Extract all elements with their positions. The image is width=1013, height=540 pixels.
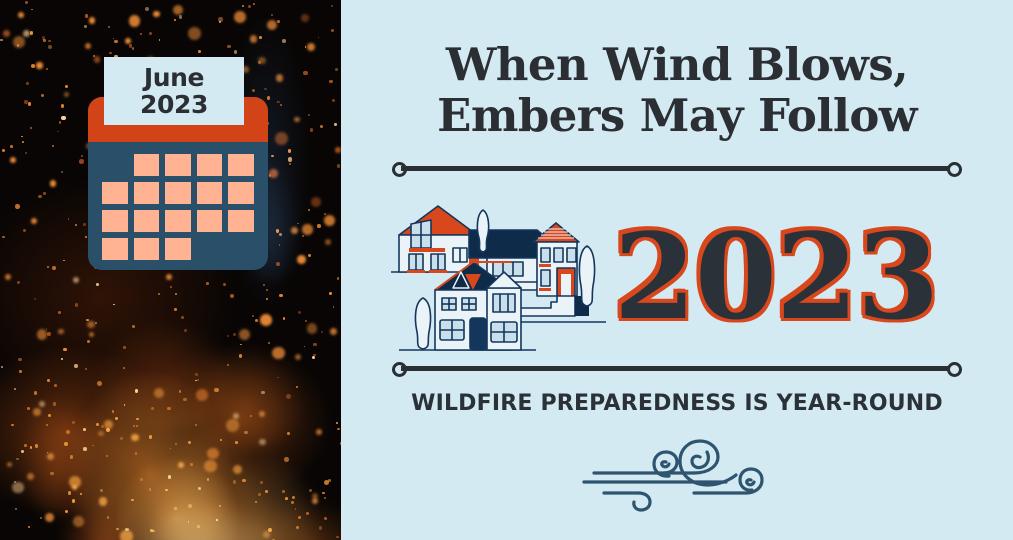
ember-spark: [85, 43, 91, 49]
ember-spark: [46, 424, 48, 426]
ember-spark: [320, 125, 323, 128]
ember-spark: [230, 294, 233, 297]
calendar-cell-day: [165, 154, 191, 176]
divider-bar: [401, 366, 953, 371]
ember-spark: [41, 94, 44, 97]
ember-spark: [18, 12, 24, 18]
ember-spark: [264, 88, 266, 90]
ember-spark: [131, 434, 138, 441]
ember-spark: [99, 497, 107, 505]
ember-spark: [85, 14, 88, 17]
tagline-text: WILDFIRE PREPAREDNESS IS YEAR-ROUND: [341, 391, 1013, 416]
ember-spark: [35, 444, 38, 447]
ember-spark: [261, 391, 264, 394]
ember-spark: [276, 262, 280, 266]
ember-spark: [47, 453, 54, 460]
ember-spark: [173, 5, 183, 15]
ember-spark: [16, 458, 18, 460]
divider-bottom: [392, 360, 962, 378]
ember-spark: [37, 329, 48, 340]
ember-spark: [28, 102, 31, 105]
ember-spark: [190, 463, 193, 466]
ember-spark: [233, 480, 236, 483]
ember-spark: [227, 45, 231, 49]
ember-spark: [302, 224, 313, 235]
ember-spark: [63, 348, 66, 351]
ember-spark: [181, 316, 184, 319]
ember-spark: [292, 496, 295, 499]
ember-spark: [75, 224, 77, 226]
ember-spark: [59, 121, 62, 124]
ember-spark: [258, 493, 260, 495]
ember-spark: [94, 56, 100, 62]
ember-spark: [27, 473, 34, 480]
ember-spark: [19, 370, 22, 373]
ember-spark: [306, 512, 309, 515]
ember-spark: [307, 323, 318, 334]
ember-spark: [319, 526, 322, 529]
ember-spark: [135, 389, 138, 392]
ember-spark: [312, 493, 318, 499]
ember-spark: [50, 180, 56, 186]
ember-spark: [57, 131, 59, 133]
calendar-cell-day: [165, 238, 191, 260]
ember-spark: [133, 425, 135, 427]
ember-spark: [21, 136, 23, 138]
ember-spark: [263, 531, 270, 538]
calendar-day-grid: [102, 154, 254, 260]
ember-spark: [15, 508, 17, 510]
ember-spark: [276, 229, 279, 232]
ember-spark: [153, 11, 159, 17]
ember-spark: [258, 57, 265, 64]
ember-spark: [226, 419, 239, 432]
calendar-cell-day: [134, 238, 160, 260]
ember-spark: [132, 325, 135, 328]
ember-spark: [282, 39, 286, 43]
calendar-cell-day: [102, 182, 128, 204]
divider-bar: [401, 166, 953, 171]
ember-spark: [17, 281, 20, 284]
ember-spark: [27, 407, 30, 410]
ember-spark: [108, 26, 110, 28]
calendar-cell-day: [102, 238, 128, 260]
ember-spark: [125, 38, 131, 44]
ember-spark: [120, 437, 123, 440]
ember-spark: [129, 44, 132, 47]
ember-spark: [302, 235, 304, 237]
ember-spark: [36, 62, 42, 68]
ember-spark: [149, 435, 153, 439]
calendar-cell-day: [134, 210, 160, 232]
ember-spark: [321, 331, 323, 333]
flame-glow: [20, 395, 100, 515]
ember-spark: [196, 389, 208, 401]
ember-spark: [65, 510, 68, 513]
ember-spark: [145, 7, 149, 11]
ember-spark: [282, 490, 285, 493]
ember-spark: [279, 244, 281, 246]
ember-spark: [294, 117, 300, 123]
ember-spark: [288, 157, 293, 162]
ember-spark: [64, 442, 67, 445]
ember-spark: [317, 224, 321, 228]
ember-spark: [135, 452, 138, 455]
page-title: When Wind Blows, Embers May Follow: [341, 40, 1013, 142]
ember-spark: [296, 386, 298, 388]
ember-spark: [286, 394, 291, 399]
headline-line-1: When Wind Blows,: [446, 38, 908, 91]
year-display: 2023: [596, 218, 956, 348]
ember-spark: [324, 215, 335, 226]
ember-spark: [219, 505, 221, 507]
ember-spark: [46, 68, 49, 71]
ember-spark: [275, 132, 288, 145]
ember-spark: [312, 356, 316, 360]
ember-spark: [269, 169, 277, 177]
calendar-cell-empty: [228, 238, 254, 260]
calendar-year-value: 2023: [140, 91, 208, 118]
ember-spark: [115, 417, 118, 420]
ember-spark: [337, 428, 340, 431]
ember-spark: [120, 530, 132, 540]
ember-spark: [198, 487, 201, 490]
ember-spark: [167, 407, 170, 410]
ember-spark: [336, 422, 338, 424]
ember-spark: [42, 36, 46, 40]
ember-spark: [125, 528, 129, 532]
ember-spark: [308, 114, 310, 116]
ember-spark: [337, 164, 341, 168]
ember-spark: [242, 479, 245, 482]
ember-spark: [34, 298, 36, 300]
ember-spark: [214, 388, 218, 392]
ember-spark: [174, 507, 177, 510]
ember-spark: [216, 519, 218, 521]
ember-spark: [101, 425, 104, 428]
ember-spark: [48, 40, 50, 42]
calendar-cell-day: [228, 210, 254, 232]
ember-spark: [197, 525, 200, 528]
divider-top: [392, 160, 962, 178]
calendar-cell-day: [134, 182, 160, 204]
ember-spark: [149, 32, 152, 35]
neighborhood-houses-illustration: [391, 190, 606, 365]
ember-spark: [291, 501, 294, 504]
ember-spark: [151, 407, 154, 410]
ember-spark: [24, 100, 28, 104]
ember-spark: [219, 21, 221, 23]
ember-spark: [68, 491, 71, 494]
ember-spark: [112, 410, 114, 412]
ember-spark: [129, 15, 140, 26]
ember-spark: [72, 421, 75, 424]
ember-spark: [277, 20, 280, 23]
calendar-cell-day: [197, 210, 223, 232]
ember-spark: [183, 398, 186, 401]
ember-spark: [34, 391, 37, 394]
ember-spark: [263, 284, 265, 286]
calendar-cell-day: [134, 154, 160, 176]
content-panel: When Wind Blows, Embers May Follow: [341, 0, 1013, 540]
ember-spark: [30, 31, 33, 34]
ember-spark: [276, 74, 284, 82]
ember-spark: [206, 282, 209, 285]
ember-spark: [313, 354, 316, 357]
wind-swirl-icon: [576, 435, 781, 515]
calendar-cell-empty: [197, 238, 223, 260]
ember-spark: [87, 340, 90, 343]
divider-endpoint-right-icon: [947, 362, 962, 377]
ember-spark: [22, 141, 24, 143]
ember-spark: [266, 298, 268, 300]
ember-spark: [267, 20, 277, 30]
ember-spark: [85, 236, 87, 238]
ember-spark: [178, 462, 185, 469]
calendar-cell-day: [165, 210, 191, 232]
ember-spark: [235, 441, 238, 444]
ember-spark: [10, 145, 13, 148]
ember-spark: [11, 424, 13, 426]
ember-spark: [74, 364, 78, 368]
headline-line-2: Embers May Follow: [341, 91, 1013, 142]
ember-spark: [307, 43, 315, 51]
ember-spark: [47, 379, 50, 382]
ember-spark: [25, 1, 28, 4]
ember-spark: [136, 425, 138, 427]
ember-spark: [174, 308, 176, 310]
infographic-poster: June 2023 When Wind Blows, Embers May Fo…: [0, 0, 1013, 540]
ember-spark: [25, 152, 27, 154]
calendar-cell-day: [197, 154, 223, 176]
ember-spark: [73, 516, 84, 527]
ember-spark: [271, 155, 274, 158]
ember-spark: [291, 227, 298, 234]
ember-spark: [54, 384, 57, 387]
ember-spark: [280, 104, 282, 106]
ember-spark: [79, 159, 84, 164]
calendar-cell-day: [197, 182, 223, 204]
ember-spark: [289, 163, 291, 165]
ember-spark: [83, 447, 87, 451]
ember-spark: [50, 472, 53, 475]
ember-spark: [204, 460, 216, 472]
ember-spark: [188, 504, 192, 508]
ember-spark: [279, 294, 282, 297]
ember-spark: [239, 354, 242, 357]
ember-spark: [260, 481, 263, 484]
ember-spark: [131, 499, 134, 502]
ember-spark: [259, 36, 262, 39]
calendar-cell-day: [165, 182, 191, 204]
ember-spark: [310, 128, 313, 131]
ember-spark: [38, 195, 41, 198]
ember-spark: [259, 439, 265, 445]
ember-spark: [3, 30, 10, 37]
ember-spark: [18, 358, 21, 361]
ember-spark: [207, 448, 218, 459]
ember-spark: [288, 149, 291, 152]
ember-spark: [174, 19, 176, 21]
ember-spark: [98, 431, 103, 436]
calendar-month-name: June: [144, 64, 204, 91]
ember-spark: [10, 157, 16, 163]
calendar-cell-empty: [102, 154, 128, 176]
ember-spark: [285, 497, 288, 500]
calendar-month-label: June 2023: [104, 57, 244, 125]
ember-spark: [31, 218, 37, 224]
ember-spark: [123, 367, 125, 369]
ember-spark: [298, 516, 301, 519]
ember-spark: [106, 428, 110, 432]
ember-spark: [179, 390, 181, 392]
ember-spark: [26, 82, 29, 85]
ember-spark: [284, 457, 288, 461]
ember-spark: [265, 490, 268, 493]
ember-spark: [332, 99, 335, 102]
ember-spark: [313, 343, 316, 346]
ember-spark: [58, 311, 61, 314]
ember-spark: [136, 418, 138, 420]
ember-spark: [116, 528, 118, 530]
ember-spark: [43, 192, 46, 195]
calendar-cell-day: [228, 182, 254, 204]
ember-spark: [179, 15, 182, 18]
ember-spark: [93, 55, 95, 57]
ember-spark: [15, 204, 20, 209]
ember-spark: [198, 50, 201, 53]
ember-spark: [166, 274, 172, 280]
ember-spark: [165, 489, 167, 491]
ember-spark: [72, 499, 75, 502]
ember-spark: [197, 379, 199, 381]
ember-spark: [188, 27, 201, 40]
divider-endpoint-right-icon: [947, 162, 962, 177]
ember-spark: [207, 478, 209, 480]
ember-spark: [23, 30, 30, 37]
ember-spark: [2, 149, 5, 152]
ember-spark: [260, 314, 272, 326]
ember-spark: [271, 14, 273, 16]
ember-spark: [248, 5, 251, 8]
calendar-cell-day: [228, 154, 254, 176]
ember-spark: [168, 475, 171, 478]
ember-spark: [272, 347, 284, 359]
ember-spark: [0, 39, 2, 41]
ember-spark: [39, 401, 45, 407]
ember-spark: [83, 428, 86, 431]
ember-spark: [45, 513, 54, 522]
calendar-cell-day: [102, 210, 128, 232]
ember-spark: [234, 50, 237, 53]
ember-spark: [83, 223, 86, 226]
ember-spark: [28, 526, 30, 528]
ember-spark: [149, 488, 151, 490]
ember-spark: [303, 71, 307, 75]
ember-spark: [132, 47, 135, 50]
ember-spark: [12, 482, 23, 493]
ember-spark: [329, 292, 331, 294]
ember-spark: [337, 277, 339, 279]
ember-spark: [268, 528, 272, 532]
ember-spark: [250, 415, 252, 417]
ember-spark: [324, 497, 326, 499]
ember-spark: [295, 354, 301, 360]
ember-spark: [329, 80, 332, 83]
